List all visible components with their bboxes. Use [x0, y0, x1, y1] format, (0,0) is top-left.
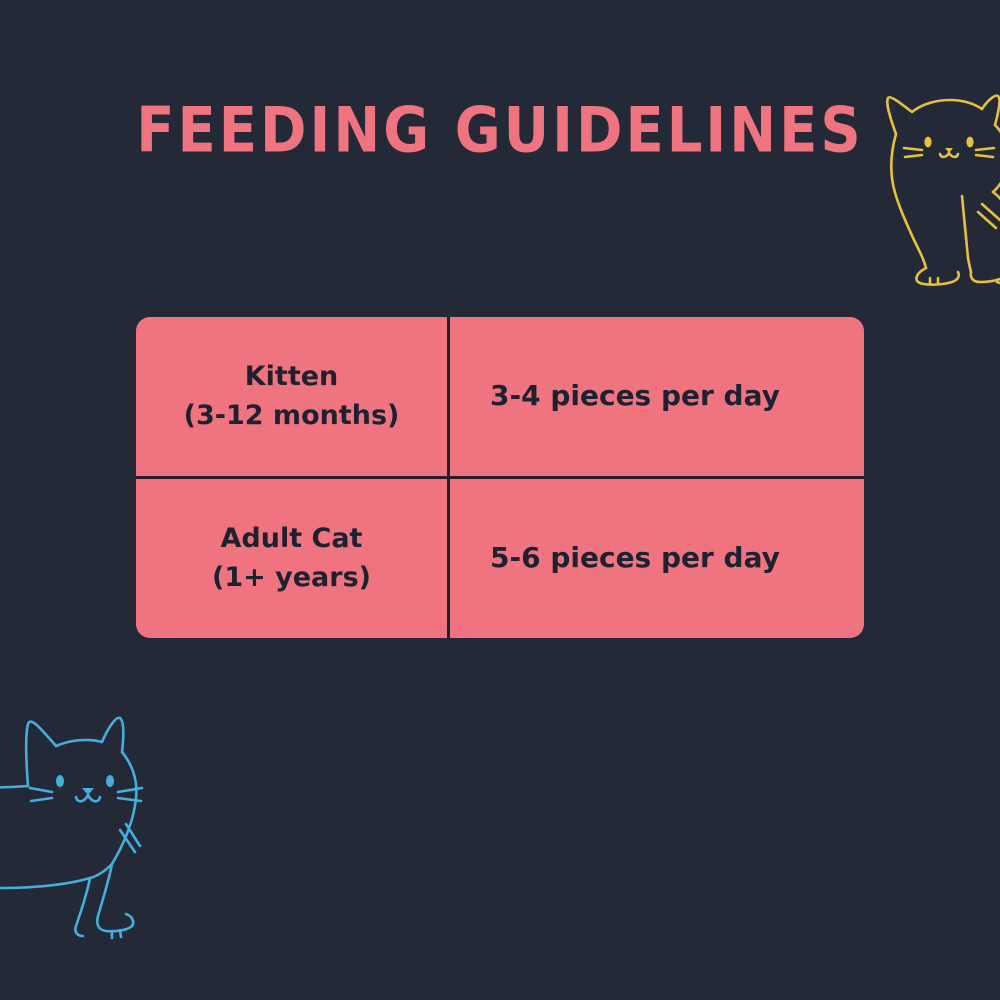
feeding-guidelines-card: FEEDING GUIDELINES [0, 0, 1000, 1000]
table-cell-portion: 5-6 pieces per day [450, 479, 864, 638]
feeding-guidelines-table: Kitten (3-12 months) 3-4 pieces per day … [136, 317, 864, 638]
walking-cat-illustration [0, 688, 200, 958]
page-title: FEEDING GUIDELINES [0, 100, 1000, 163]
table-cell-age-group: Kitten (3-12 months) [136, 317, 450, 476]
age-group-range: (1+ years) [212, 559, 371, 597]
table-cell-age-group: Adult Cat (1+ years) [136, 479, 450, 638]
table-row: Kitten (3-12 months) 3-4 pieces per day [136, 317, 864, 476]
age-group-name: Adult Cat [212, 520, 371, 558]
table-row: Adult Cat (1+ years) 5-6 pieces per day [136, 476, 864, 638]
age-group-range: (3-12 months) [184, 397, 400, 435]
table-cell-portion: 3-4 pieces per day [450, 317, 864, 476]
age-group-name: Kitten [184, 358, 400, 396]
